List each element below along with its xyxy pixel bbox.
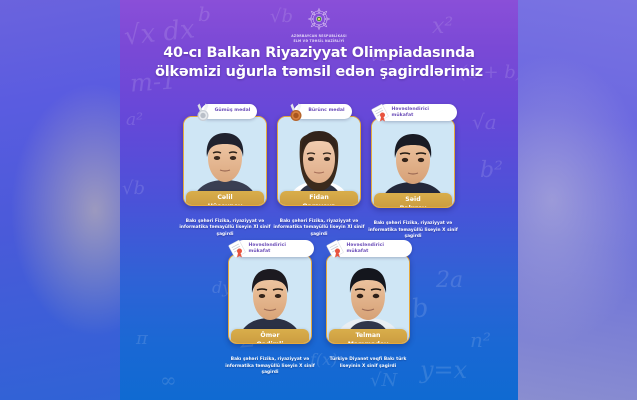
award-badge: Həvəsləndirici mükafat (378, 104, 457, 121)
blurred-right-panel (512, 0, 637, 400)
award-label: Həvəsləndirici mükafat (249, 243, 307, 255)
student-description: Türkiyə Diyanət vəqfi Bakı türk liseyini… (322, 357, 414, 370)
student-description: Bakı şəhəri Fizika, riyaziyyat və inform… (367, 221, 459, 240)
photo-card: Səid Bakırov (371, 118, 455, 208)
student-name-line-2: Qarayeva (282, 203, 356, 206)
name-plate: Səid Bakırov (374, 193, 452, 208)
student-description: Bakı şəhəri Fizika, riyaziyyat və inform… (179, 219, 271, 238)
photo-card: Telman Məmmədov (326, 254, 410, 344)
name-plate: Ömər Qədimli (231, 329, 309, 344)
student-name-line-1: Səid (376, 196, 450, 204)
silver-medal-icon (193, 102, 213, 122)
student-description: Bakı şəhəri Fizika, riyaziyyat və inform… (273, 219, 365, 238)
azerbaijan-ministry-emblem-icon (306, 6, 332, 32)
winner-card[interactable]: Bürünc medal (275, 104, 363, 240)
student-name-line-2: Bakırov (376, 205, 450, 208)
award-label: Həvəsləndirici mükafat (392, 107, 450, 119)
blurred-left-panel (0, 0, 125, 400)
ministry-name: AZƏRBAYCAN RESPUBLİKASI ELM VƏ TƏHSİL NA… (291, 34, 346, 43)
ministry-name-line-1: AZƏRBAYCAN RESPUBLİKASI (291, 34, 346, 39)
photo-card: Ömər Qədimli (228, 254, 312, 344)
winner-card[interactable]: Gümüş medal (181, 104, 269, 240)
ministry-header: AZƏRBAYCAN RESPUBLİKASI ELM VƏ TƏHSİL NA… (120, 6, 518, 43)
title-line-1: 40-cı Balkan Riyaziyyat Olimpiadasında (163, 45, 475, 61)
student-name-line-2: Hüseynov (188, 203, 262, 206)
student-name-line-1: Ömər (233, 332, 307, 340)
ministry-name-line-2: ELM VƏ TƏHSİL NAZİRLİYİ (291, 39, 346, 44)
winner-card[interactable]: Həvəsləndirici mükafat (369, 104, 457, 240)
photo-card: Fidan Qarayeva (277, 116, 361, 206)
diploma-certificate-icon (325, 239, 345, 259)
name-plate: Cəlil Hüseynov (186, 191, 264, 206)
winners-row-bottom: Həvəsləndirici mükafat (120, 240, 518, 376)
student-name-line-2: Məmmədov (331, 341, 405, 344)
name-plate: Telman Məmmədov (329, 329, 407, 344)
student-name-line-1: Cəlil (188, 194, 262, 202)
award-label: Gümüş medal (215, 108, 251, 114)
student-name-line-1: Fidan (282, 194, 356, 202)
screenshot-frame: √x dx b √b vb x² (a + b) m-1 a² √a b² √b… (0, 0, 637, 400)
student-name-line-1: Telman (331, 332, 405, 340)
diploma-certificate-icon (227, 239, 247, 259)
award-badge: Gümüş medal (201, 104, 258, 119)
photo-card: Cəlil Hüseynov (183, 116, 267, 206)
winners-row-top: Gümüş medal (120, 104, 518, 240)
award-label: Həvəsləndirici mükafat (347, 243, 405, 255)
title-line-2: ölkəmizi uğurla təmsil edən şagirdlərimi… (130, 63, 508, 82)
winner-card[interactable]: Həvəsləndirici mükafat (226, 240, 314, 376)
diploma-certificate-icon (370, 103, 390, 123)
poster-artwork: √x dx b √b vb x² (a + b) m-1 a² √a b² √b… (120, 0, 518, 400)
bronze-medal-icon (286, 102, 306, 122)
award-label: Bürünc medal (308, 108, 344, 114)
student-description: Bakı şəhəri Fizika, riyaziyyat və inform… (224, 357, 316, 376)
student-name-line-2: Qədimli (233, 341, 307, 344)
award-badge: Həvəsləndirici mükafat (333, 240, 412, 257)
poster-title: 40-cı Balkan Riyaziyyat Olimpiadasında ö… (130, 44, 508, 82)
award-badge: Bürünc medal (294, 104, 351, 119)
winner-card[interactable]: Həvəsləndirici mükafat (324, 240, 412, 376)
award-badge: Həvəsləndirici mükafat (235, 240, 314, 257)
name-plate: Fidan Qarayeva (280, 191, 358, 206)
